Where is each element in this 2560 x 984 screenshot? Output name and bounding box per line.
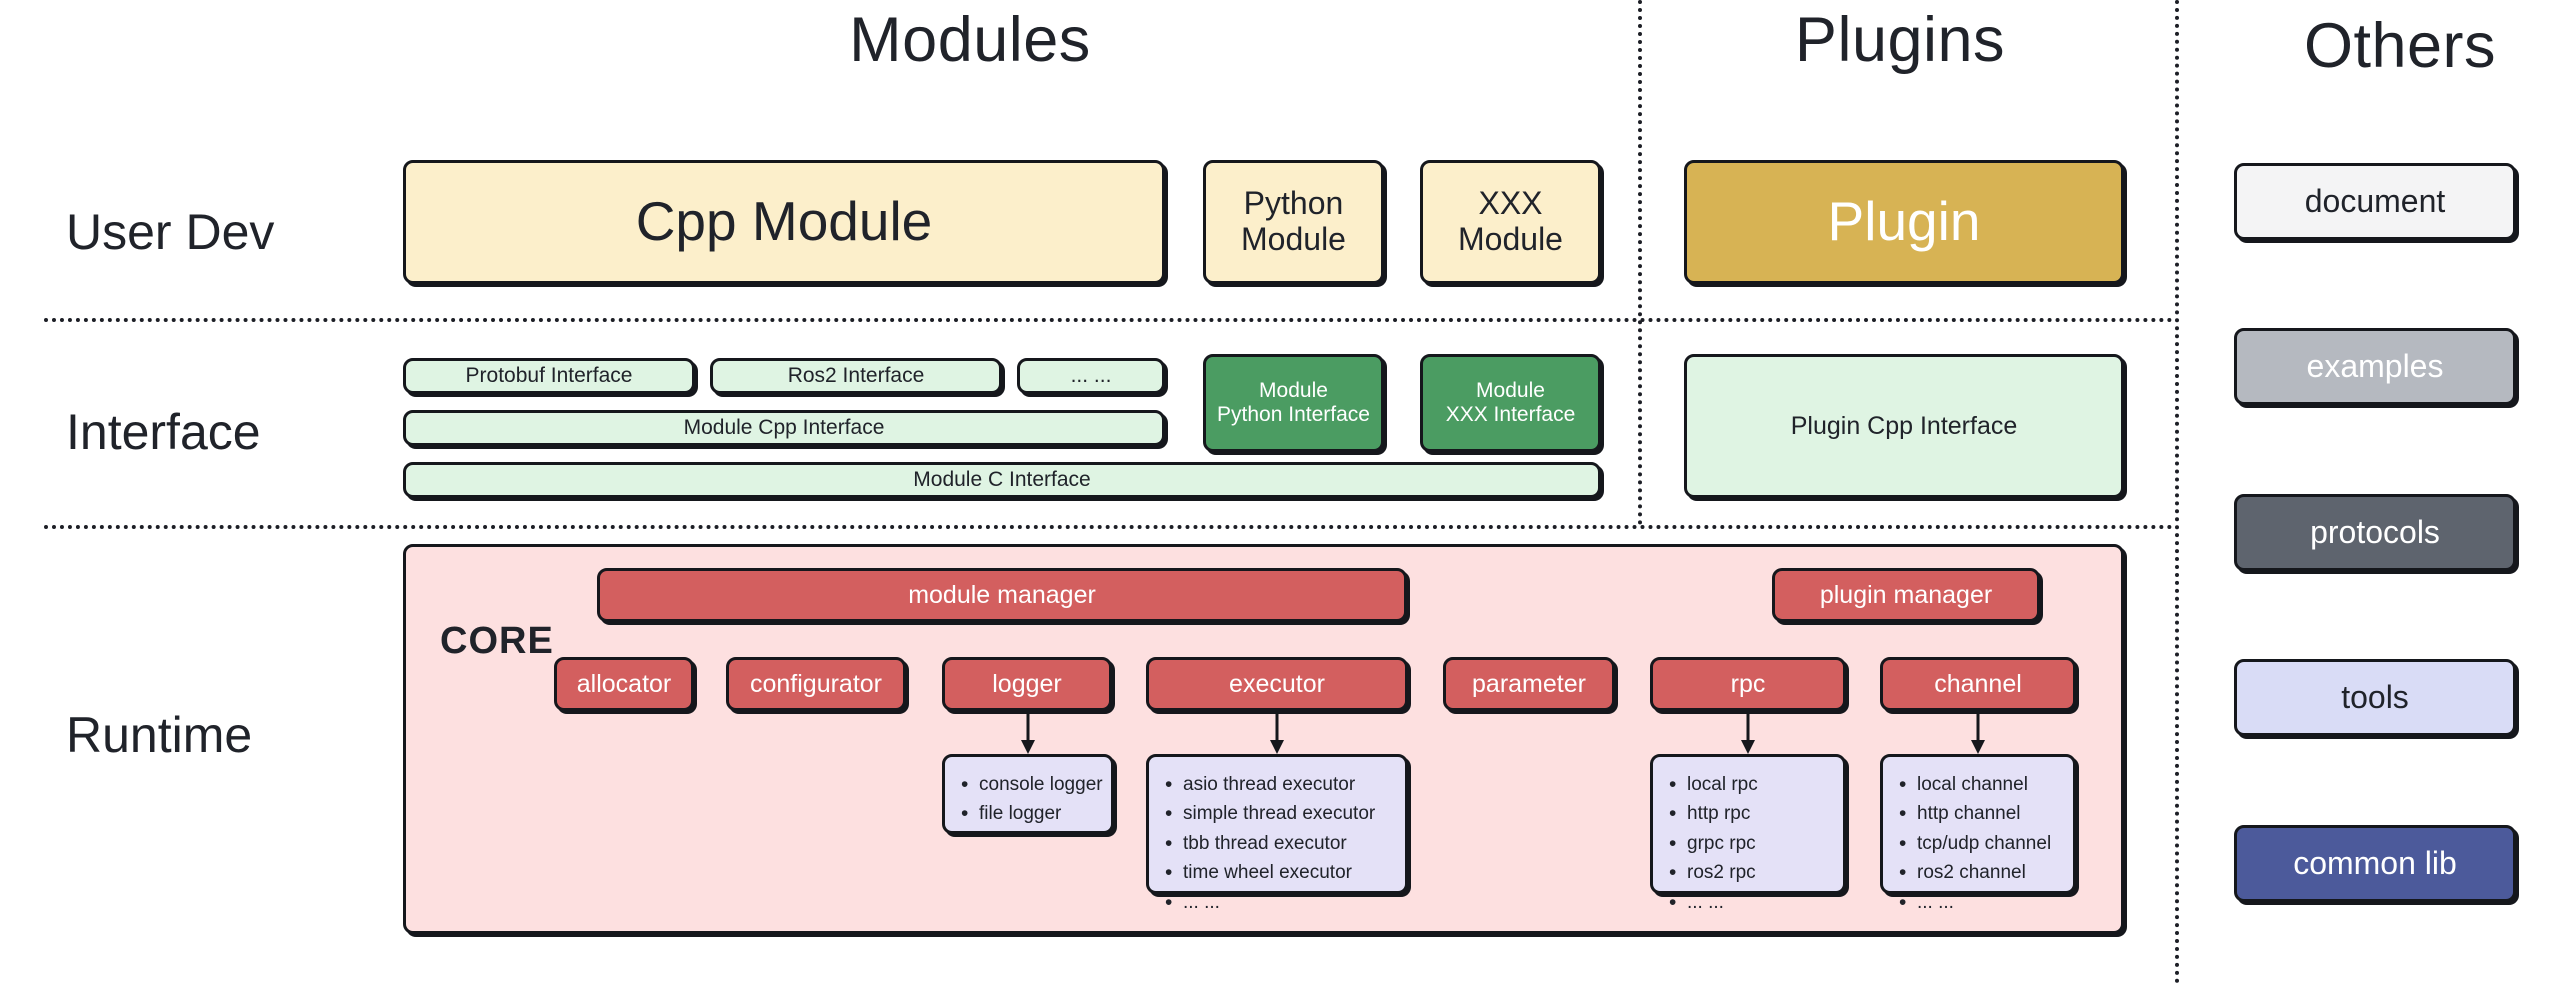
parameter-box[interactable]: parameter xyxy=(1443,657,1615,711)
channel-box[interactable]: channel xyxy=(1880,657,2076,711)
module-python-interface-box[interactable]: Module Python Interface xyxy=(1203,354,1384,452)
list-item: grpc rpc xyxy=(1667,829,1833,858)
plugin-box[interactable]: Plugin xyxy=(1684,160,2124,284)
list-item: ... ... xyxy=(1897,888,2063,917)
module-xxx-interface-box[interactable]: Module XXX Interface xyxy=(1420,354,1601,452)
list-item: ... ... xyxy=(1163,888,1395,917)
others-item-protocols[interactable]: protocols xyxy=(2234,494,2516,571)
logger-details-list: console loggerfile logger xyxy=(959,770,1101,829)
list-item: time wheel executor xyxy=(1163,858,1395,887)
list-item: console logger xyxy=(959,770,1101,799)
column-title-modules: Modules xyxy=(700,4,1240,76)
row-label-interface: Interface xyxy=(66,403,261,461)
logger-box[interactable]: logger xyxy=(942,657,1112,711)
cpp-module-box[interactable]: Cpp Module xyxy=(403,160,1165,284)
others-item-document[interactable]: document xyxy=(2234,163,2516,240)
list-item: http rpc xyxy=(1667,799,1833,828)
rpc-box[interactable]: rpc xyxy=(1650,657,1846,711)
row-label-runtime: Runtime xyxy=(66,706,252,764)
separator-modules-plugins xyxy=(1638,0,1642,525)
plugin-cpp-interface-box[interactable]: Plugin Cpp Interface xyxy=(1684,354,2124,498)
xxx-module-box[interactable]: XXX Module xyxy=(1420,160,1601,284)
channel-details-box: local channelhttp channeltcp/udp channel… xyxy=(1880,754,2076,894)
separator-interface-runtime xyxy=(44,525,2174,529)
allocator-box[interactable]: allocator xyxy=(554,657,694,711)
column-title-others: Others xyxy=(2250,10,2550,82)
logger-details-box: console loggerfile logger xyxy=(942,754,1114,834)
executor-details-list: asio thread executorsimple thread execut… xyxy=(1163,770,1395,917)
column-title-plugins: Plugins xyxy=(1680,4,2120,76)
core-label: CORE xyxy=(440,620,554,663)
separator-user-dev-interface xyxy=(44,318,2174,322)
list-item: tbb thread executor xyxy=(1163,829,1395,858)
arrow-logger-down xyxy=(1016,714,1040,756)
list-item: ros2 rpc xyxy=(1667,858,1833,887)
list-item: ros2 channel xyxy=(1897,858,2063,887)
configurator-box[interactable]: configurator xyxy=(726,657,906,711)
list-item: ... ... xyxy=(1667,888,1833,917)
others-item-tools[interactable]: tools xyxy=(2234,659,2516,736)
arrow-channel-down xyxy=(1966,714,1990,756)
other-interface-box[interactable]: ... ... xyxy=(1017,358,1165,394)
others-item-examples[interactable]: examples xyxy=(2234,328,2516,405)
list-item: asio thread executor xyxy=(1163,770,1395,799)
module-manager-box[interactable]: module manager xyxy=(597,568,1407,622)
protobuf-interface-box[interactable]: Protobuf Interface xyxy=(403,358,695,394)
list-item: simple thread executor xyxy=(1163,799,1395,828)
architecture-diagram: Modules Plugins Others User Dev Interfac… xyxy=(0,0,2560,984)
list-item: tcp/udp channel xyxy=(1897,829,2063,858)
rpc-details-list: local rpchttp rpcgrpc rpcros2 rpc... ... xyxy=(1667,770,1833,917)
ros2-interface-box[interactable]: Ros2 Interface xyxy=(710,358,1002,394)
list-item: file logger xyxy=(959,799,1101,828)
executor-box[interactable]: executor xyxy=(1146,657,1408,711)
module-c-interface-bar[interactable]: Module C Interface xyxy=(403,462,1601,498)
row-label-user-dev: User Dev xyxy=(66,203,274,261)
others-item-common-lib[interactable]: common lib xyxy=(2234,825,2516,902)
executor-details-box: asio thread executorsimple thread execut… xyxy=(1146,754,1408,894)
python-module-box[interactable]: Python Module xyxy=(1203,160,1384,284)
list-item: http channel xyxy=(1897,799,2063,828)
rpc-details-box: local rpchttp rpcgrpc rpcros2 rpc... ... xyxy=(1650,754,1846,894)
arrow-rpc-down xyxy=(1736,714,1760,756)
list-item: local channel xyxy=(1897,770,2063,799)
channel-details-list: local channelhttp channeltcp/udp channel… xyxy=(1897,770,2063,917)
plugin-manager-box[interactable]: plugin manager xyxy=(1772,568,2040,622)
arrow-executor-down xyxy=(1265,714,1289,756)
module-cpp-interface-bar[interactable]: Module Cpp Interface xyxy=(403,410,1165,446)
separator-plugins-others xyxy=(2175,0,2179,984)
list-item: local rpc xyxy=(1667,770,1833,799)
